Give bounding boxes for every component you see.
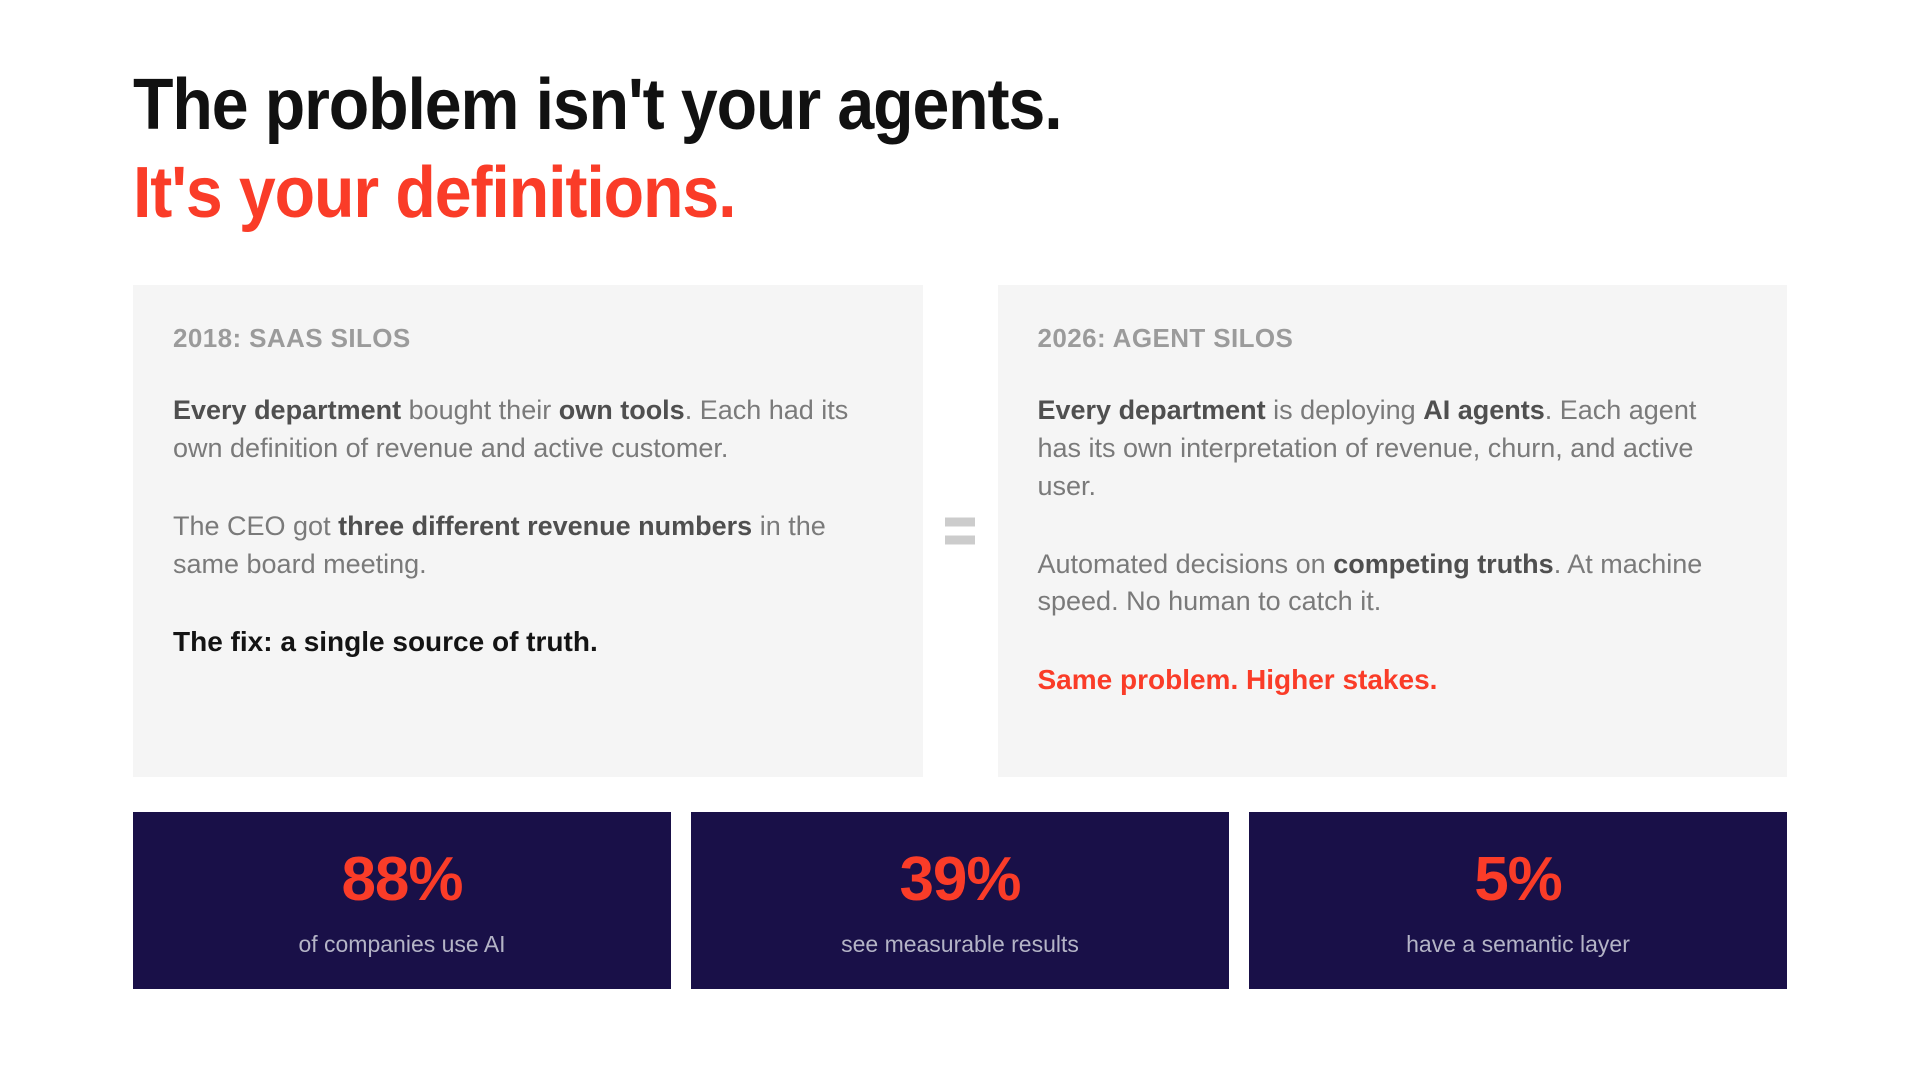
stat-label: of companies use AI — [298, 933, 505, 956]
card-eyebrow-2018: 2018: SAAS SILOS — [173, 323, 883, 354]
headline-line-accent: It's your definitions. — [133, 156, 1655, 232]
stat-value: 5% — [1474, 849, 1562, 911]
stat-label: see measurable results — [841, 933, 1079, 956]
card-paragraph-2-right: Automated decisions on competing truths.… — [1038, 546, 1748, 622]
emphasis-text: AI agents — [1423, 395, 1545, 425]
body-text: The CEO got — [173, 511, 338, 541]
card-kicker-right: Same problem. Higher stakes. — [1038, 661, 1748, 699]
emphasis-text: own tools — [559, 395, 685, 425]
comparison-section: 2018: SAAS SILOS Every department bought… — [133, 285, 1787, 777]
card-paragraph-1-right: Every department is deploying AI agents.… — [1038, 392, 1748, 505]
card-eyebrow-2026: 2026: AGENT SILOS — [1038, 323, 1748, 354]
comparison-card-2026: 2026: AGENT SILOS Every department is de… — [998, 285, 1788, 777]
emphasis-text: Every department — [1038, 395, 1266, 425]
body-text: is deploying — [1266, 395, 1424, 425]
slide-canvas: The problem isn't your agents. It's your… — [0, 0, 1920, 1076]
stat-label: have a semantic layer — [1406, 933, 1630, 956]
card-kicker-left: The fix: a single source of truth. — [173, 623, 883, 661]
stat-box: 5% have a semantic layer — [1249, 812, 1787, 989]
page-title: The problem isn't your agents. It's your… — [133, 0, 1787, 231]
stat-box: 39% see measurable results — [691, 812, 1229, 989]
equals-icon — [945, 518, 975, 545]
equals-bar-bottom — [945, 536, 975, 545]
stat-value: 39% — [899, 849, 1020, 911]
emphasis-text: three different revenue numbers — [338, 511, 752, 541]
stat-value: 88% — [341, 849, 462, 911]
body-text: Automated decisions on — [1038, 549, 1334, 579]
comparison-card-2018: 2018: SAAS SILOS Every department bought… — [133, 285, 923, 777]
stat-box: 88% of companies use AI — [133, 812, 671, 989]
body-text: bought their — [401, 395, 559, 425]
emphasis-text: Every department — [173, 395, 401, 425]
stats-section: 88% of companies use AI 39% see measurab… — [133, 812, 1787, 989]
headline-line-primary: The problem isn't your agents. — [133, 68, 1655, 144]
card-paragraph-1-left: Every department bought their own tools.… — [173, 392, 883, 468]
card-paragraph-2-left: The CEO got three different revenue numb… — [173, 508, 883, 584]
equals-bar-top — [945, 518, 975, 527]
emphasis-text: competing truths — [1333, 549, 1554, 579]
